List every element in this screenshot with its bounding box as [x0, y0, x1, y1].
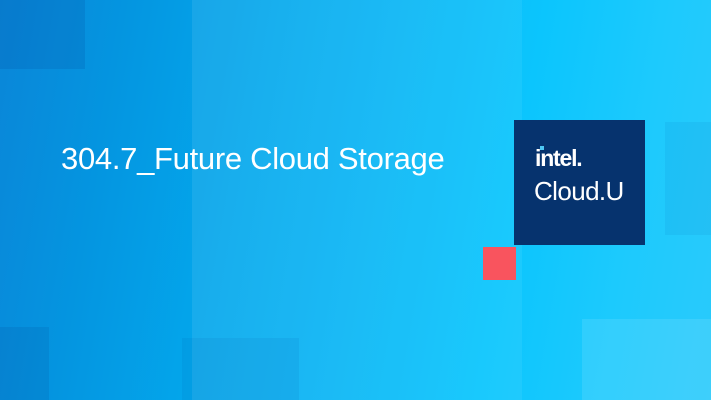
slide-title: 304.7_Future Cloud Storage — [61, 133, 461, 185]
intel-wordmark: intel. — [535, 147, 581, 170]
intel-cloudu-logo: intel. Cloud.U — [514, 120, 645, 245]
intel-wordmark-period: . — [576, 145, 581, 171]
decor-rect-bottom-right — [582, 319, 711, 400]
decor-rect-bottom-left — [0, 327, 49, 400]
decor-rect-right-upper — [665, 122, 711, 235]
cloudu-wordmark: Cloud.U — [534, 178, 624, 204]
decor-rect-top-left — [0, 0, 85, 69]
intel-i-dot-icon — [540, 146, 544, 150]
decor-rect-bottom-middle — [182, 338, 299, 400]
title-slide: 304.7_Future Cloud Storage intel. Cloud.… — [0, 0, 711, 400]
red-accent-square — [483, 247, 516, 280]
